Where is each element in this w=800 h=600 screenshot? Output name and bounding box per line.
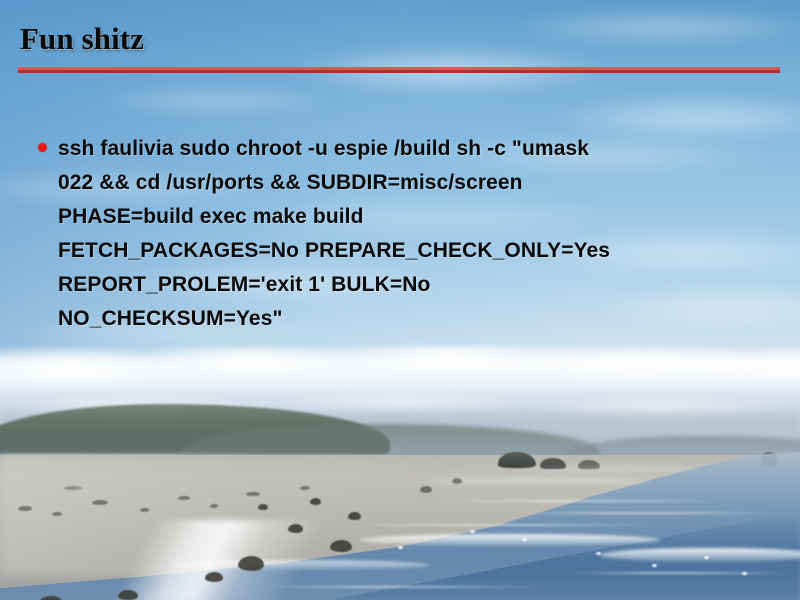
water-glint [742,572,747,575]
pebble [210,504,218,508]
pebble [178,496,190,500]
pebble [64,486,82,490]
slide: Fun shitz ssh faulivia sudo chroot -u es… [0,0,800,600]
shore-foam [0,520,430,600]
cloud-wisp [520,10,800,44]
seaweed-clump [205,572,223,582]
water-glint [470,530,475,533]
pebble [246,492,260,496]
bullet-list: ssh faulivia sudo chroot -u espie /build… [34,132,764,336]
rule-shadow [18,70,780,73]
seaweed-clump [310,498,321,505]
water-ripple [560,572,800,574]
seaweed-clump [40,596,62,600]
seaweed-clump [348,512,361,520]
seaweed-clump [330,540,352,552]
bullet-text: ssh faulivia sudo chroot -u espie /build… [58,132,764,336]
pebble [300,486,310,490]
seaweed-clump [258,504,268,510]
foam-line [520,466,700,472]
water-glint [596,552,601,555]
seaweed-clump [452,478,462,484]
cloud-wisp [100,86,330,116]
water-glint [398,546,403,549]
foam-line [430,478,650,486]
title-underline-rule [18,67,780,73]
round-bullet-icon [38,143,47,152]
water-glint [704,556,709,559]
pebble [140,508,149,512]
seaweed-clump [288,524,303,533]
water-glint [522,538,527,541]
seaweed-clump [420,486,432,493]
slide-title: Fun shitz [20,22,144,56]
water-glint [652,564,657,567]
water-ripple [430,500,730,502]
pebble [52,512,62,516]
pebble [18,506,32,511]
list-item: ssh faulivia sudo chroot -u espie /build… [34,132,764,336]
seaweed-clump [118,590,138,600]
seaweed-clump [238,556,264,571]
pebble [92,500,108,505]
water-ripple [500,512,790,514]
